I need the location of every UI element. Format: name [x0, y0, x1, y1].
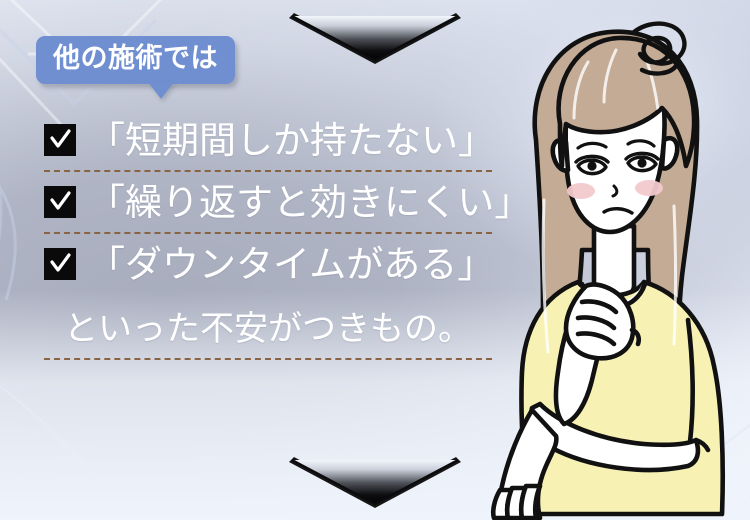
list-item-label: 「繰り返すと効きにくい」: [88, 184, 531, 221]
closing-statement: といった不安がつきもの。: [44, 300, 492, 360]
speech-bubble-body: 他の施術では: [36, 36, 235, 84]
concerns-list: 「短期間しか持たない」 「繰り返すと効きにくい」 「ダウンタイムがある」: [44, 110, 492, 294]
check-icon: [44, 248, 76, 280]
closing-statement-label: といった不安がつきもの。: [64, 312, 472, 346]
list-item: 「ダウンタイムがある」: [44, 234, 492, 294]
list-item: 「短期間しか持たない」: [44, 110, 492, 172]
check-icon: [44, 186, 76, 218]
speech-bubble-label: 他の施術では: [53, 43, 218, 75]
list-item-label: 「短期間しか持たない」: [88, 122, 495, 159]
list-item: 「繰り返すと効きにくい」: [44, 172, 492, 234]
banner-canvas: 他の施術では 「短期間しか持たない」 「繰り返すと効きにくい」: [0, 0, 750, 520]
speech-bubble-tail: [148, 82, 174, 99]
speech-bubble: 他の施術では: [36, 36, 235, 84]
chevron-down-icon-top: [286, 6, 464, 68]
woman-thinking-illustration: [482, 0, 750, 520]
list-item-label: 「ダウンタイムがある」: [88, 246, 494, 283]
check-icon: [44, 124, 76, 156]
chevron-down-icon-bottom: [286, 450, 464, 512]
